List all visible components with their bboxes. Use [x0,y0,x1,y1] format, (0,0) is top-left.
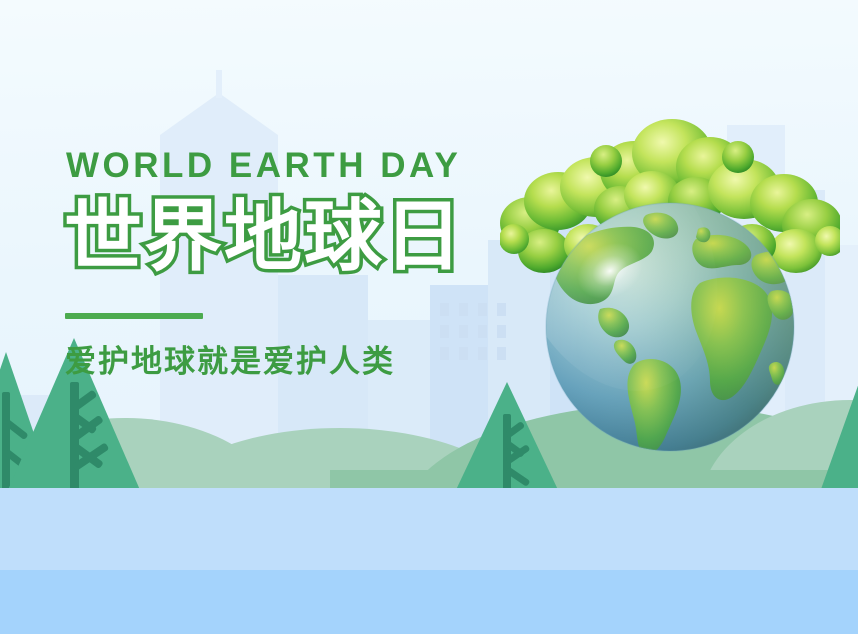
globe-svg [500,105,840,465]
tagline-text: 爱护地球就是爱护人类 [65,346,524,377]
world-earth-day-poster: WORLD EARTH DAY 世界地球日 爱护地球就是爱护人类 [0,0,858,634]
building-2-spire [216,70,222,98]
earth-globe-illustration [500,105,840,465]
bottom-band-upper [0,488,858,570]
divider-rule [65,313,203,319]
eyebrow-text: WORLD EARTH DAY [66,148,524,183]
headline-block: WORLD EARTH DAY 世界地球日 爱护地球就是爱护人类 [64,148,524,377]
building-2-tower-cap [160,93,278,135]
bottom-band-lower [0,570,858,634]
page-title: 世界地球日 [64,197,524,275]
